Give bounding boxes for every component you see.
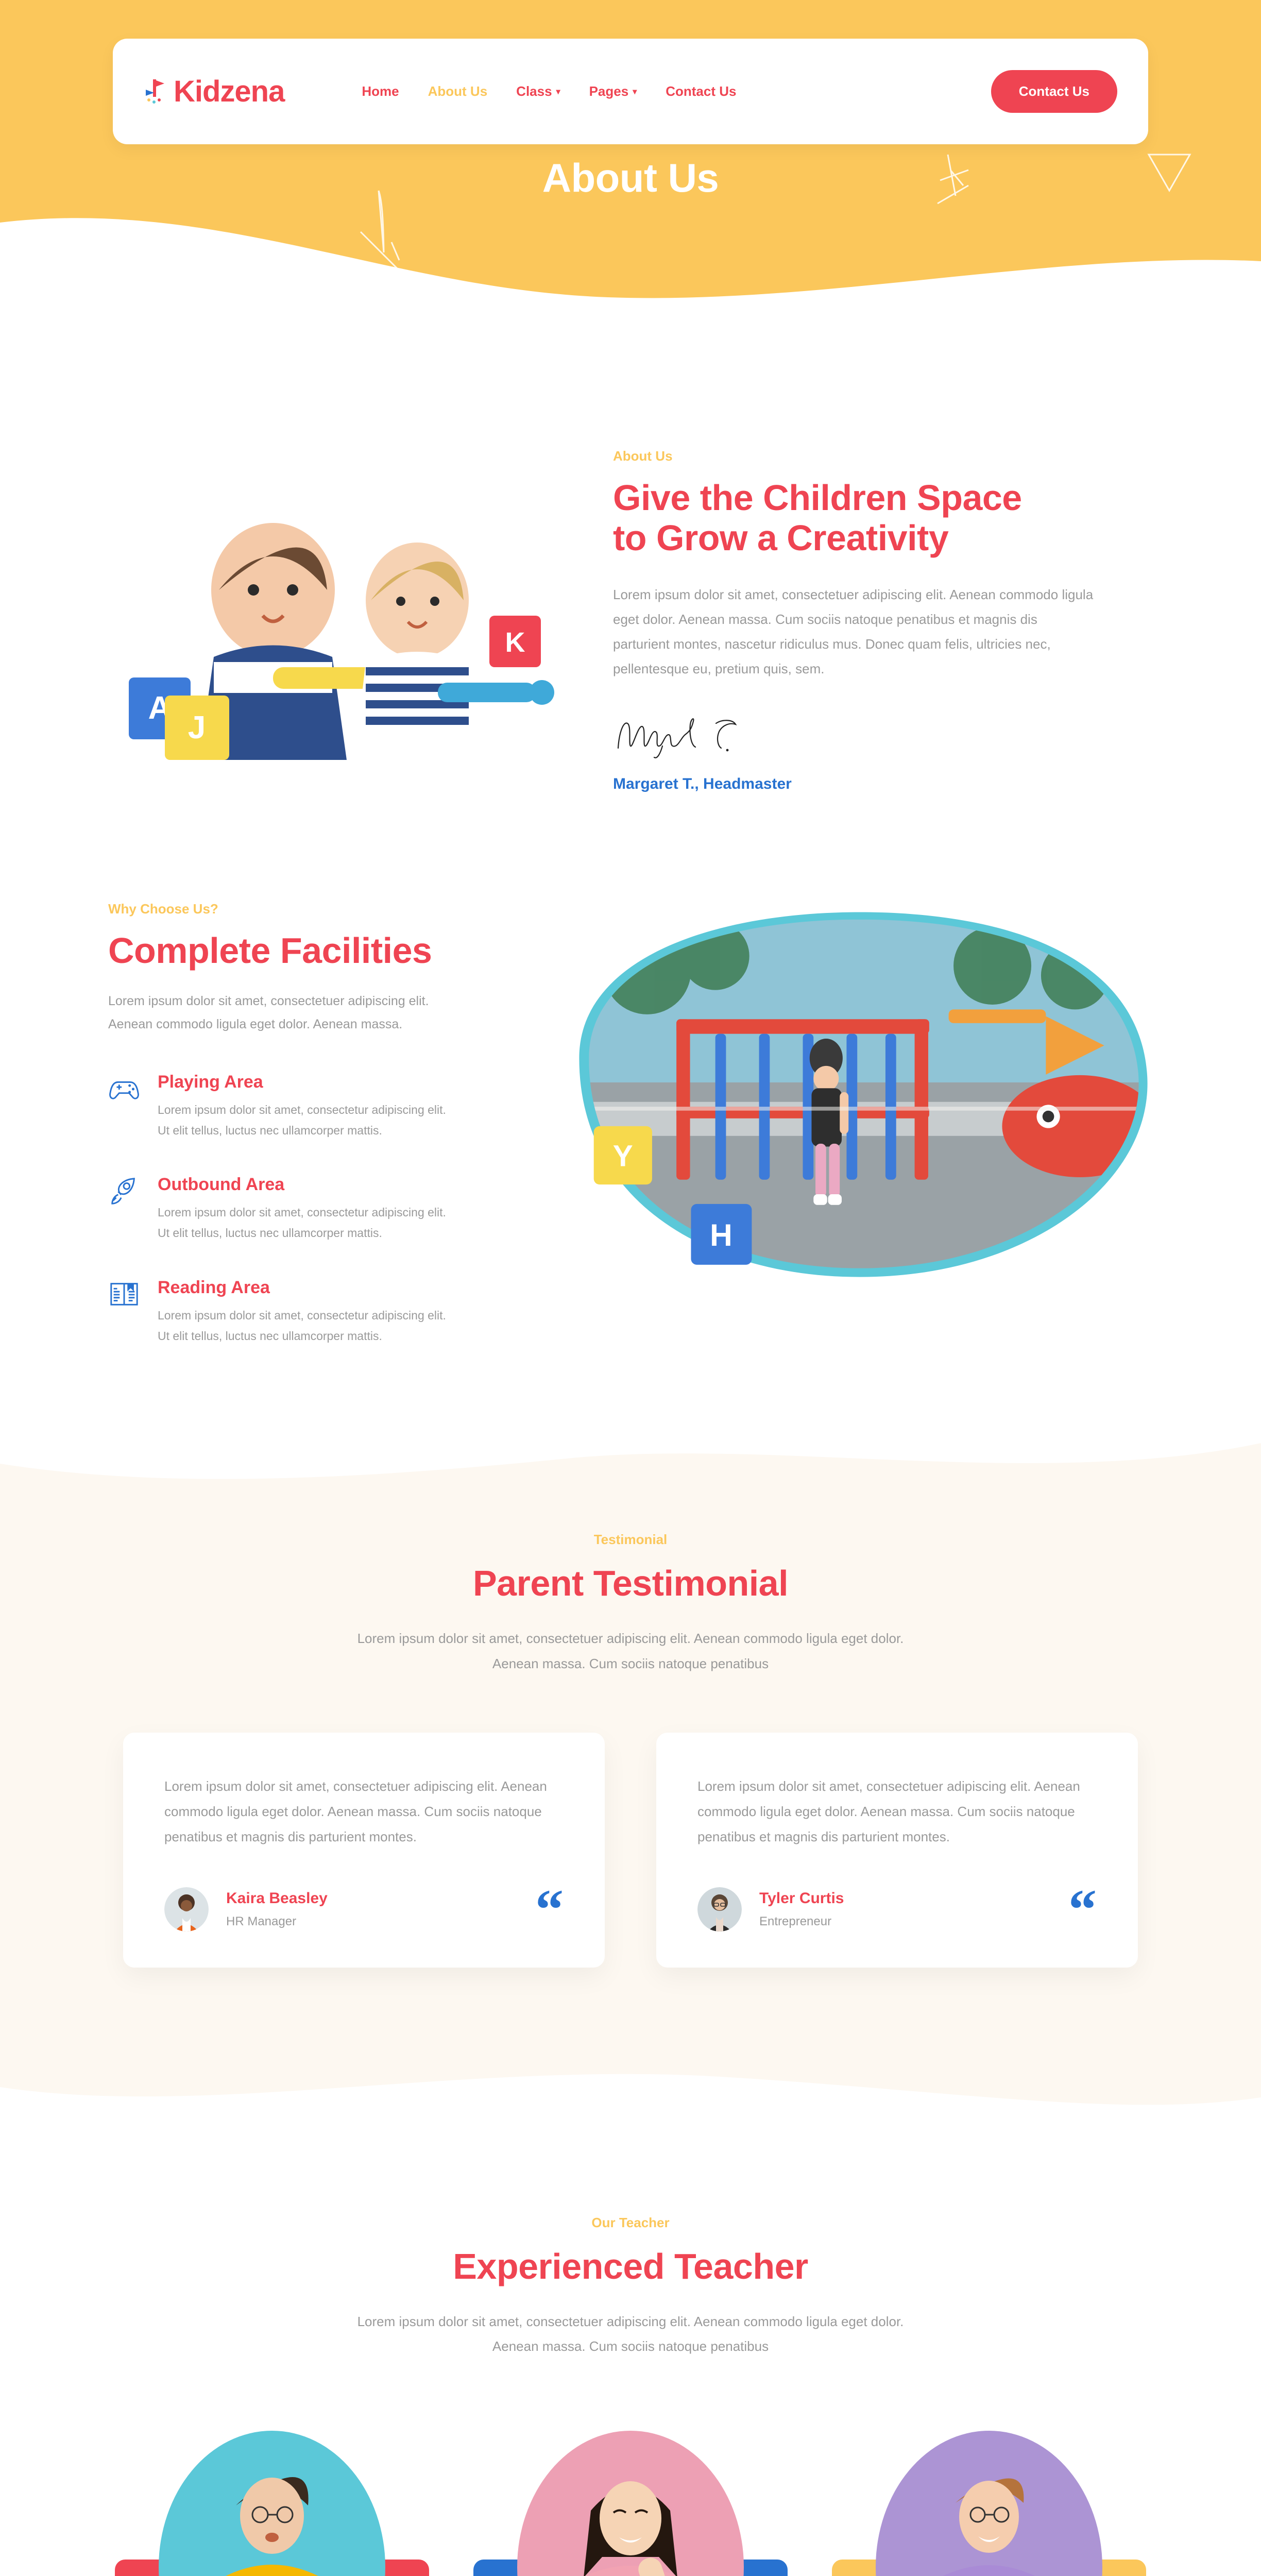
about-heading-line-2: to Grow a Creativity xyxy=(613,518,948,558)
gamepad-icon xyxy=(108,1072,140,1104)
teachers-heading: Experienced Teacher xyxy=(0,2246,1261,2286)
quote-icon: “ xyxy=(535,1892,564,1926)
rocket-icon xyxy=(108,1175,140,1207)
facility-title: Reading Area xyxy=(158,1278,446,1298)
nav-item-label: Class xyxy=(516,83,552,99)
testimonial-cards: Lorem ipsum dolor sit amet, consectetuer… xyxy=(0,1733,1261,1968)
teachers-header: Our Teacher Experienced Teacher Lorem ip… xyxy=(0,2215,1261,2359)
facilities-playground-photo: Y H xyxy=(531,886,1153,1313)
about-heading-line-1: Give the Children Space xyxy=(613,478,1022,518)
teacher-photo xyxy=(546,2449,715,2576)
logo-text: Kidzena xyxy=(174,74,284,109)
about-signer: Margaret T., Headmaster xyxy=(613,775,1153,793)
about-heading: Give the Children Space to Grow a Creati… xyxy=(613,478,1153,558)
teachers-subtitle: Lorem ipsum dolor sit amet, consectetuer… xyxy=(352,2309,909,2359)
hero-bottom-wave xyxy=(0,202,1261,320)
avatar xyxy=(164,1887,209,1931)
testimonial-card: Lorem ipsum dolor sit amet, consectetuer… xyxy=(656,1733,1138,1968)
teachers-section: Our Teacher Experienced Teacher Lorem ip… xyxy=(0,2117,1261,2576)
testimonial-header: Testimonial Parent Testimonial Lorem ips… xyxy=(0,1532,1261,1676)
nav-item-contact-us[interactable]: Contact Us xyxy=(666,83,736,99)
teacher-card[interactable]: Edgar Warren Teacher xyxy=(115,2431,429,2576)
facility-title: Playing Area xyxy=(158,1072,446,1092)
testimonial-top-wave xyxy=(0,1428,1261,1495)
about-body-text: Lorem ipsum dolor sit amet, consectetuer… xyxy=(613,582,1097,681)
teacher-card[interactable]: Edgar Warren Teacher xyxy=(473,2431,788,2576)
playground-illustration: Y H xyxy=(531,886,1153,1313)
testimonial-quote: Lorem ipsum dolor sit amet, consectetuer… xyxy=(164,1774,564,1850)
book-icon xyxy=(108,1278,140,1310)
nav-item-about-us[interactable]: About Us xyxy=(428,83,488,99)
testimonial-role: HR Manager xyxy=(226,1914,328,1929)
facilities-section: Why Choose Us? Complete Facilities Lorem… xyxy=(0,855,1261,1429)
signature-image xyxy=(613,712,778,761)
testimonial-heading: Parent Testimonial xyxy=(0,1563,1261,1603)
testimonial-card: Lorem ipsum dolor sit amet, consectetuer… xyxy=(123,1733,605,1968)
navbar-contact-us-button[interactable]: Contact Us xyxy=(991,70,1117,113)
about-photo-illustration: A J K xyxy=(108,461,567,770)
testimonial-role: Entrepreneur xyxy=(759,1914,844,1929)
facility-body: Lorem ipsum dolor sit amet, consectetur … xyxy=(158,1305,446,1347)
teacher-photo xyxy=(187,2449,357,2576)
about-text-block: About Us Give the Children Space to Grow… xyxy=(613,438,1153,793)
svg-text:J: J xyxy=(188,710,206,745)
nav-item-class[interactable]: Class ▾ xyxy=(516,83,560,99)
teacher-photo xyxy=(904,2449,1074,2576)
main-navbar: Kidzena Home About Us Class ▾ Pages xyxy=(113,39,1148,144)
teachers-eyebrow: Our Teacher xyxy=(0,2215,1261,2231)
facility-body: Lorem ipsum dolor sit amet, consectetur … xyxy=(158,1202,446,1244)
nav-item-label: Pages xyxy=(589,83,629,99)
kidzena-logo-icon xyxy=(144,77,168,106)
chevron-down-icon: ▾ xyxy=(556,87,560,97)
nav-item-label: Home xyxy=(362,83,399,99)
facility-body: Lorem ipsum dolor sit amet, consectetur … xyxy=(158,1099,446,1141)
about-us-page: Kidzena Home About Us Class ▾ Pages xyxy=(0,0,1261,2576)
avatar xyxy=(697,1887,742,1931)
facilities-text-block: Why Choose Us? Complete Facilities Lorem… xyxy=(108,886,500,1346)
navbar-container: Kidzena Home About Us Class ▾ Pages xyxy=(0,0,1261,144)
testimonial-name: Tyler Curtis xyxy=(759,1890,844,1907)
nav-item-label: About Us xyxy=(428,83,488,99)
chevron-down-icon: ▾ xyxy=(633,87,637,97)
testimonial-subtitle: Lorem ipsum dolor sit amet, consectetuer… xyxy=(352,1626,909,1675)
teacher-card[interactable]: Ellice Wolf Teacher xyxy=(832,2431,1146,2576)
about-eyebrow: About Us xyxy=(613,448,1153,464)
nav-links: Home About Us Class ▾ Pages ▾ Contact Us xyxy=(362,83,736,99)
testimonial-quote: Lorem ipsum dolor sit amet, consectetuer… xyxy=(697,1774,1097,1850)
facility-item-outbound-area[interactable]: Outbound Area Lorem ipsum dolor sit amet… xyxy=(108,1175,500,1244)
facilities-description: Lorem ipsum dolor sit amet, consectetuer… xyxy=(108,990,469,1036)
facilities-heading: Complete Facilities xyxy=(108,930,500,971)
facilities-list: Playing Area Lorem ipsum dolor sit amet,… xyxy=(108,1072,500,1347)
svg-text:Y: Y xyxy=(613,1139,633,1173)
facility-title: Outbound Area xyxy=(158,1175,446,1195)
quote-icon: “ xyxy=(1068,1892,1097,1926)
svg-text:H: H xyxy=(710,1217,732,1252)
facility-item-playing-area[interactable]: Playing Area Lorem ipsum dolor sit amet,… xyxy=(108,1072,500,1141)
nav-item-label: Contact Us xyxy=(666,83,736,99)
nav-item-pages[interactable]: Pages ▾ xyxy=(589,83,637,99)
about-section: A J K About Us Give the Children Space t… xyxy=(0,319,1261,855)
svg-text:K: K xyxy=(505,627,525,658)
testimonial-author: Kaira Beasley HR Manager “ xyxy=(164,1887,564,1931)
page-title: About Us xyxy=(0,155,1261,201)
testimonial-eyebrow: Testimonial xyxy=(0,1532,1261,1548)
testimonial-section: Testimonial Parent Testimonial Lorem ips… xyxy=(0,1429,1261,2117)
testimonial-bottom-wave xyxy=(0,2041,1261,2118)
about-children-photo: A J K xyxy=(108,461,567,770)
facility-item-reading-area[interactable]: Reading Area Lorem ipsum dolor sit amet,… xyxy=(108,1278,500,1347)
nav-item-home[interactable]: Home xyxy=(362,83,399,99)
site-logo[interactable]: Kidzena xyxy=(144,74,284,109)
hero-section: Kidzena Home About Us Class ▾ Pages xyxy=(0,0,1261,319)
facilities-eyebrow: Why Choose Us? xyxy=(108,901,500,917)
testimonial-author: Tyler Curtis Entrepreneur “ xyxy=(697,1887,1097,1931)
teacher-cards: Edgar Warren Teacher Ed xyxy=(0,2431,1261,2576)
testimonial-name: Kaira Beasley xyxy=(226,1890,328,1907)
